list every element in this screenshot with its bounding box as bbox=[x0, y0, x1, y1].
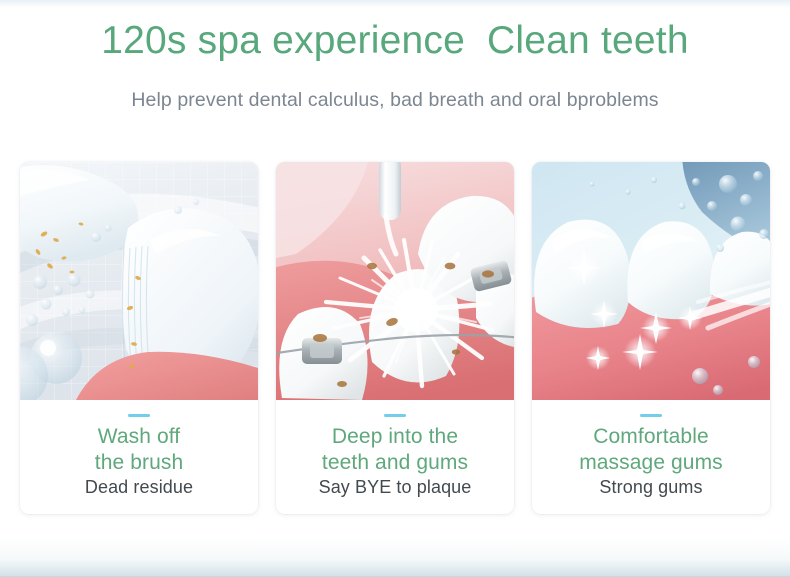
card-subtitle: Dead residue bbox=[26, 477, 252, 498]
feature-card[interactable]: Comfortable massage gums Strong gums bbox=[532, 162, 770, 514]
accent-dash-icon bbox=[640, 414, 662, 417]
card-text-block: Comfortable massage gums Strong gums bbox=[532, 400, 770, 514]
gum-massage-sparkle-illustration bbox=[532, 162, 770, 400]
card-title: Comfortable massage gums bbox=[538, 424, 764, 475]
page-bottom-gradient bbox=[0, 537, 790, 577]
feature-card-list: Wash off the brush Dead residue bbox=[20, 162, 770, 514]
tooth-water-bubbles-illustration bbox=[20, 162, 258, 400]
card-title: Wash off the brush bbox=[26, 424, 252, 475]
page-subheadline: Help prevent dental calculus, bad breath… bbox=[0, 89, 790, 112]
card-title: Deep into the teeth and gums bbox=[282, 424, 508, 475]
accent-dash-icon bbox=[384, 414, 406, 417]
card-subtitle: Strong gums bbox=[538, 477, 764, 498]
water-jet-braces-illustration bbox=[276, 162, 514, 400]
card-text-block: Wash off the brush Dead residue bbox=[20, 400, 258, 514]
page-headline: 120s spa experience Clean teeth bbox=[0, 0, 790, 64]
feature-card[interactable]: Deep into the teeth and gums Say BYE to … bbox=[276, 162, 514, 514]
feature-card[interactable]: Wash off the brush Dead residue bbox=[20, 162, 258, 514]
card-text-block: Deep into the teeth and gums Say BYE to … bbox=[276, 400, 514, 514]
accent-dash-icon bbox=[128, 414, 150, 417]
card-subtitle: Say BYE to plaque bbox=[282, 477, 508, 498]
